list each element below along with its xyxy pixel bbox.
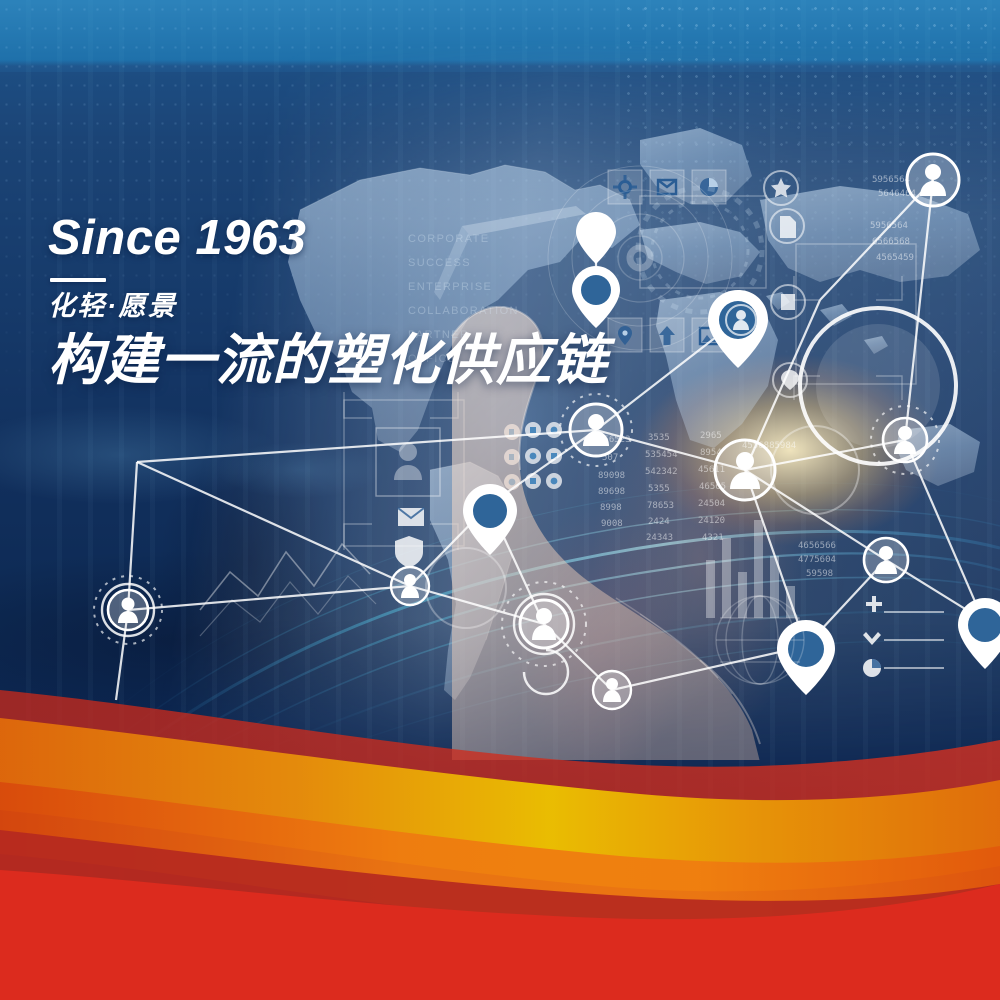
svg-text:89098: 89098 bbox=[598, 471, 625, 481]
svg-text:8998: 8998 bbox=[600, 503, 622, 513]
headline-text-block: Since 1963 化轻·愿景 构建一流的塑化供应链 bbox=[48, 214, 608, 389]
star-icon bbox=[771, 178, 791, 198]
vision-subtitle: 化轻·愿景 bbox=[48, 292, 608, 322]
svg-text:24504: 24504 bbox=[698, 499, 725, 509]
divider-rule bbox=[50, 278, 106, 282]
svg-text:9008: 9008 bbox=[601, 519, 623, 529]
svg-text:4565459: 4565459 bbox=[876, 253, 914, 263]
promo-banner: 456523507 8909889698 89989008 3535535454… bbox=[0, 0, 1000, 1000]
svg-text:24343: 24343 bbox=[646, 533, 673, 543]
svg-text:2965: 2965 bbox=[700, 431, 722, 441]
chevron-down-icon bbox=[863, 632, 881, 645]
main-headline: 构建一流的塑化供应链 bbox=[48, 332, 608, 390]
svg-text:24120: 24120 bbox=[698, 516, 725, 526]
ticket-icon bbox=[781, 294, 795, 310]
svg-text:2424: 2424 bbox=[648, 517, 670, 527]
svg-text:4775604: 4775604 bbox=[798, 555, 836, 565]
lens-inner bbox=[816, 324, 940, 448]
svg-text:542342: 542342 bbox=[645, 467, 678, 477]
svg-text:78653: 78653 bbox=[647, 501, 674, 511]
svg-text:5956564: 5956564 bbox=[872, 175, 910, 185]
shield-icon bbox=[395, 536, 423, 568]
since-label: Since 1963 bbox=[48, 214, 608, 263]
svg-text:4656566: 4656566 bbox=[798, 541, 836, 551]
svg-text:89698: 89698 bbox=[598, 487, 625, 497]
plus-icon bbox=[866, 596, 882, 612]
svg-text:3535: 3535 bbox=[648, 433, 670, 443]
svg-text:59598: 59598 bbox=[806, 569, 833, 579]
bottom-wave-graphics bbox=[0, 670, 1000, 1000]
svg-text:4321: 4321 bbox=[702, 533, 724, 543]
lens-ring-secondary bbox=[771, 426, 859, 514]
svg-text:5355: 5355 bbox=[648, 484, 670, 494]
